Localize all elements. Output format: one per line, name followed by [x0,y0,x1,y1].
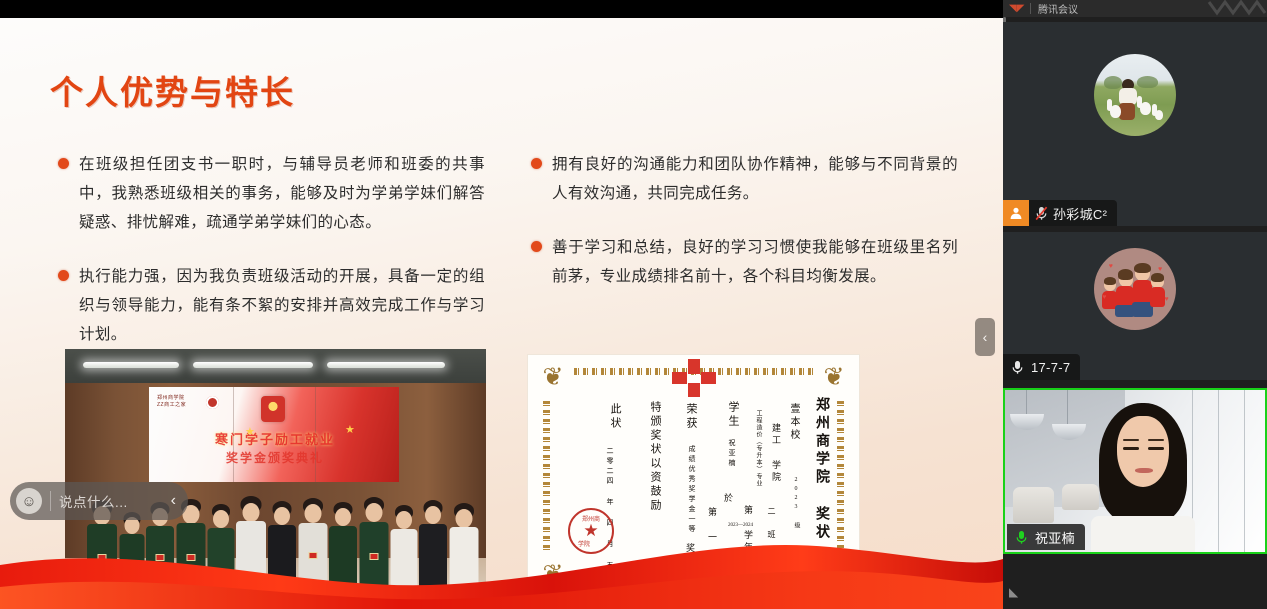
participant-tile[interactable]: 孙彩城C² [1003,22,1267,226]
participants-sidebar: ◥◤ 腾讯会议 [1003,0,1267,609]
chat-input-bar[interactable]: ☺ 说点什么... ‹ [10,482,188,520]
bullet-text: 在班级担任团支书一职时，与辅导员老师和班委的共事中，我熟悉班级相关的事务，能够及… [79,150,485,237]
participant-name-chip: 孙彩城C² [1003,200,1117,226]
participant-name: 孙彩城C² [1053,204,1107,223]
bullet-text: 拥有良好的沟通能力和团队协作精神，能够与不同背景的人有效沟通，共同完成任务。 [552,150,958,208]
participant-tile[interactable]: ♥ ♥ ♥ ♥ 17-7-7 [1003,232,1267,380]
ribbon-decoration [0,529,1003,609]
shared-screen-area: 个人优势与特长 在班级担任团支书一职时，与辅导员老师和班委的共事中，我熟悉班级相… [0,0,1003,609]
bullet-dot-icon [531,158,542,169]
participant-name-chip: 17-7-7 [1003,354,1080,380]
meeting-title: 腾讯会议 [1038,1,1078,16]
certificate-grade: 壹本校 [786,403,801,442]
bullet-column-right: 拥有良好的沟通能力和团队协作精神，能够与不同背景的人有效沟通，共同完成任务。 善… [528,150,958,316]
letterbox-bar [0,0,1003,18]
participant-name: 17-7-7 [1031,360,1070,375]
participant-tile-active[interactable]: 祝亚楠 [1003,388,1267,554]
divider [1030,3,1031,14]
certificate-award-name: 成绩优秀奖学金一等 [687,445,697,535]
certificate-award-label: 荣获 [683,403,699,431]
certificate-this: 此状 [607,403,623,431]
mic-on-icon [1007,530,1035,545]
divider [50,491,51,511]
certificate-at: 於 [722,493,735,505]
list-item: 拥有良好的沟通能力和团队协作精神，能够与不同背景的人有效沟通，共同完成任务。 [528,150,958,208]
waveform-icon [1207,0,1267,17]
participant-name: 祝亚楠 [1035,528,1075,547]
bullet-text: 执行能力强，因为我负责班级活动的开展，具备一定的组织与领导能力，能有条不絮的安排… [79,262,485,349]
certificate-student-label: 学生 [725,401,741,429]
bullet-dot-icon [58,270,69,281]
person-icon [1003,200,1029,226]
certificate-year: 2023 级 [792,477,801,531]
certificate-emblem-icon [672,359,716,397]
smiley-icon[interactable]: ☺ [16,488,42,514]
meeting-topbar: ◥◤ 腾讯会议 [1003,0,1267,17]
app-logo-icon: ◥◤ [1009,3,1023,14]
chat-input[interactable]: 说点什么... [59,491,165,511]
mic-muted-icon [1029,206,1053,221]
mic-on-icon [1003,360,1031,375]
collapse-panel-button[interactable]: ‹ [975,318,995,356]
certificate-range: 2023—2024 [728,523,753,528]
resize-handle-icon[interactable]: ◣ [1009,585,1023,599]
avatar: ♥ ♥ ♥ ♥ [1094,248,1176,330]
list-item: 在班级担任团支书一职时，与辅导员老师和班委的共事中，我熟悉班级相关的事务，能够及… [55,150,485,237]
page-title: 个人优势与特长 [50,66,295,114]
avatar [1094,54,1176,136]
chevron-left-icon[interactable]: ‹ [165,492,182,510]
bullet-dot-icon [58,158,69,169]
screen: 个人优势与特长 在班级担任团支书一职时，与辅导员老师和班委的共事中，我熟悉班级相… [0,0,1267,609]
participant-name-chip: 祝亚楠 [1007,524,1085,550]
certificate-header: 郑州商学院 奖状 [811,397,831,542]
sidebar-footer: ◣ [1003,554,1267,609]
bullet-dot-icon [531,241,542,252]
list-item: 善于学习和总结，良好的学习习惯使我能够在班级里名列前茅，专业成绩排名前十，各个科… [528,233,958,291]
bullet-text: 善于学习和总结，良好的学习习惯使我能够在班级里名列前茅，专业成绩排名前十，各个科… [552,233,958,291]
certificate-student-name: 祝亚楠 [727,439,737,469]
certificate-issue-text: 特颁奖状以资鼓励 [647,401,663,513]
list-item: 执行能力强，因为我负责班级活动的开展，具备一定的组织与领导能力，能有条不絮的安排… [55,262,485,349]
bullet-column-left: 在班级担任团支书一职时，与辅导员老师和班委的共事中，我熟悉班级相关的事务，能够及… [55,150,485,374]
certificate-college: 建工 学院 [770,423,783,484]
certificate-major: 工程造价（专升本）专业 [754,410,763,487]
presentation-slide: 个人优势与特长 在班级担任团支书一职时，与辅导员老师和班委的共事中，我熟悉班级相… [0,18,1003,609]
